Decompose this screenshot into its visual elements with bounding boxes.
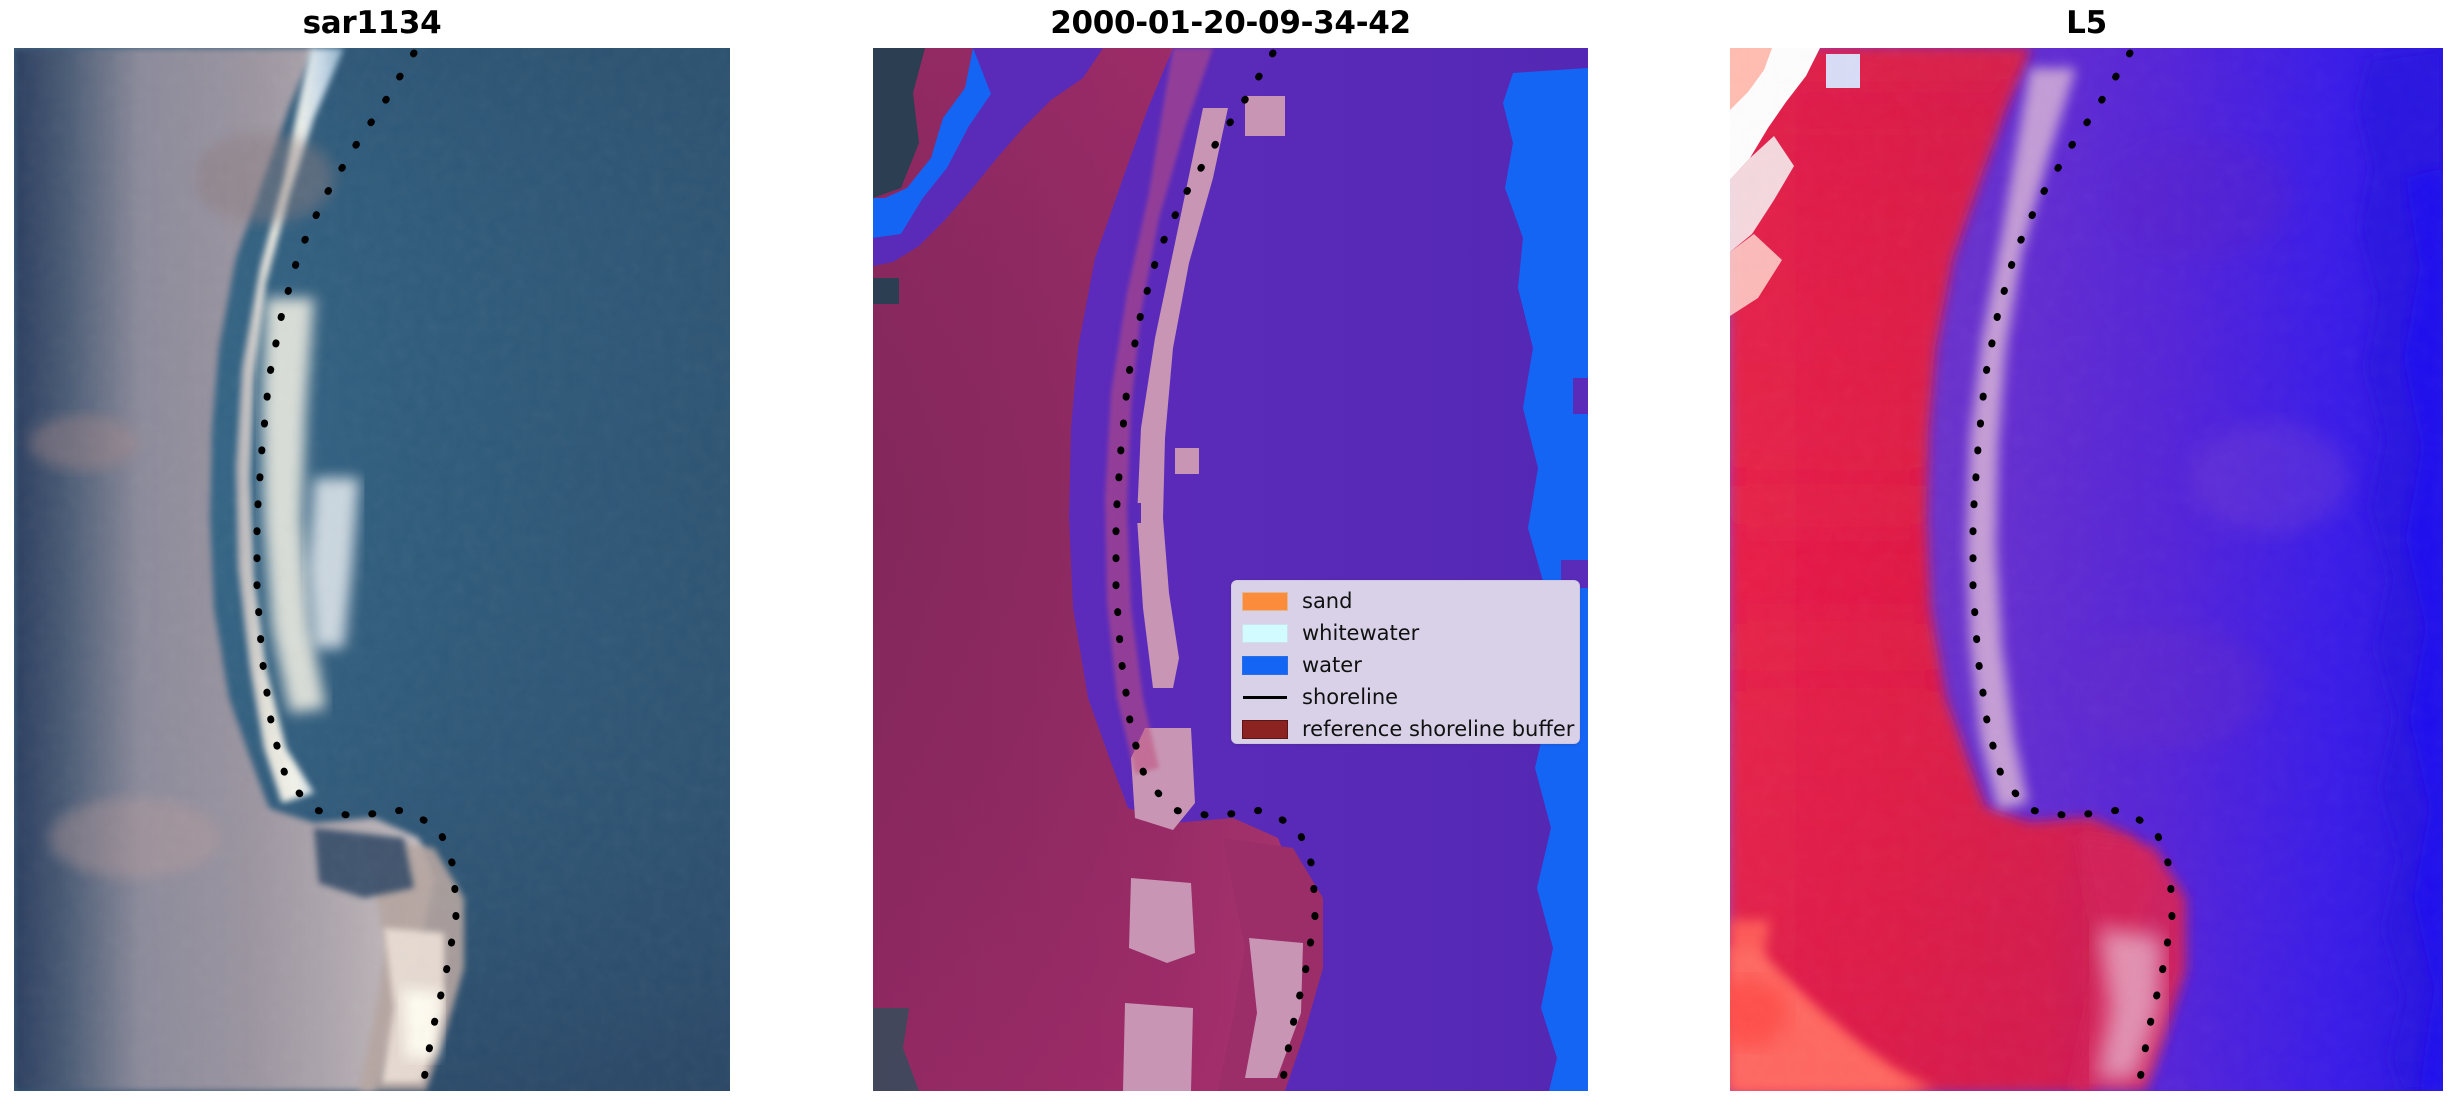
shoreline-line-icon xyxy=(1242,688,1288,707)
l5-raster xyxy=(1730,48,2443,1091)
legend-item-water[interactable]: water xyxy=(1232,650,1579,680)
panel-title-l5: L5 xyxy=(1730,2,2443,44)
legend-label-whitewater: whitewater xyxy=(1302,623,1419,644)
panel-sar-image[interactable] xyxy=(14,48,730,1091)
panel-l5-image[interactable] xyxy=(1730,48,2443,1091)
legend-item-shoreline[interactable]: shoreline xyxy=(1232,682,1579,712)
figure-canvas: sar1134 xyxy=(0,0,2460,1108)
panel-title-sar: sar1134 xyxy=(14,2,730,44)
classification-raster xyxy=(873,48,1588,1091)
legend-label-water: water xyxy=(1302,655,1362,676)
water-swatch-icon xyxy=(1242,656,1288,675)
whitewater-swatch-icon xyxy=(1242,624,1288,643)
sar-raster xyxy=(14,48,730,1091)
legend-label-reference-shoreline-buffer: reference shoreline buffer xyxy=(1302,719,1574,740)
reference-shoreline-buffer-swatch-icon xyxy=(1242,720,1288,739)
panel-classification-image[interactable] xyxy=(873,48,1588,1091)
legend-item-sand[interactable]: sand xyxy=(1232,586,1579,616)
panel-title-classification: 2000-01-20-09-34-42 xyxy=(873,2,1588,44)
legend-item-whitewater[interactable]: whitewater xyxy=(1232,618,1579,648)
legend-label-sand: sand xyxy=(1302,591,1352,612)
sand-swatch-icon xyxy=(1242,592,1288,611)
legend-item-reference-shoreline-buffer[interactable]: reference shoreline buffer xyxy=(1232,714,1579,744)
legend-label-shoreline: shoreline xyxy=(1302,687,1398,708)
legend-box[interactable]: sand whitewater water shoreline referenc… xyxy=(1231,580,1580,744)
